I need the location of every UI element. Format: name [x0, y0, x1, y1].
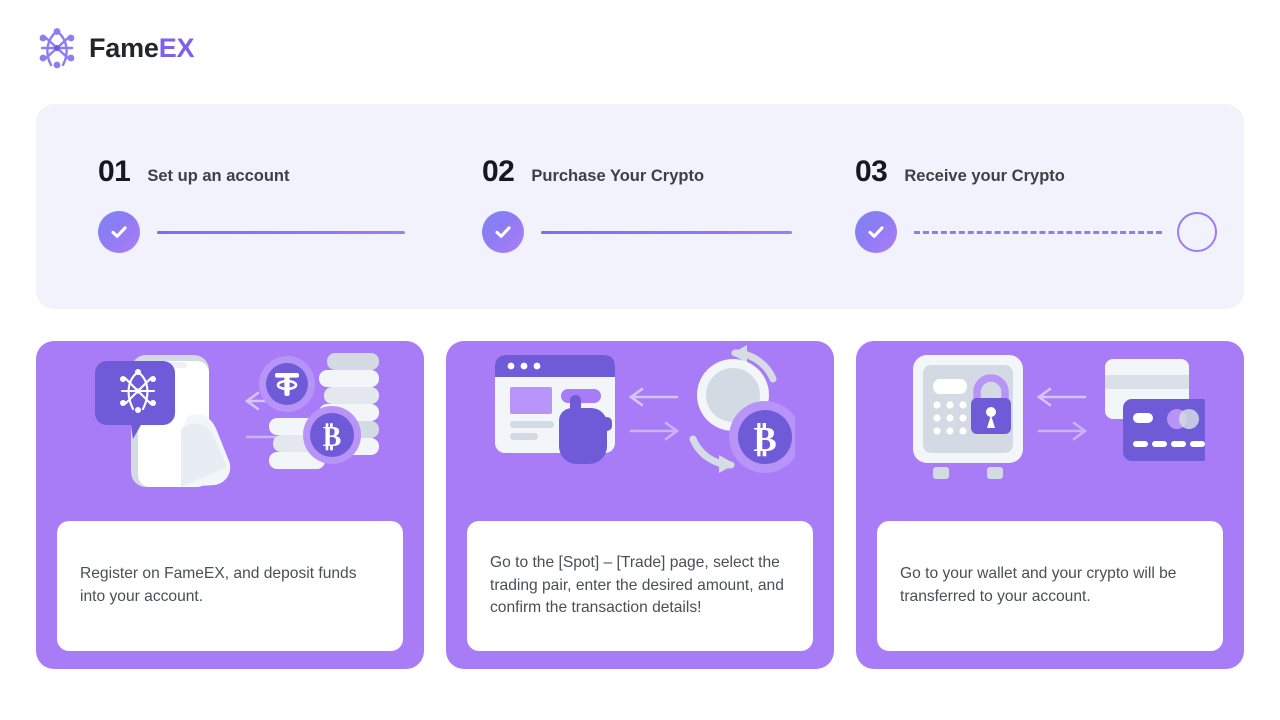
card-step-02-note: Go to the [Spot] – [Trade] page, select …: [467, 521, 813, 651]
step-03[interactable]: 03 Receive your Crypto: [855, 104, 1244, 309]
step-01-heading: 01 Set up an account: [98, 157, 289, 187]
check-circle-icon: [855, 211, 897, 253]
card-step-02-text: Go to the [Spot] – [Trade] page, select …: [490, 552, 790, 620]
exchange-arrows-icon: [631, 389, 677, 439]
step-03-label: Receive your Crypto: [904, 168, 1064, 185]
check-circle-icon: [482, 211, 524, 253]
safe-and-cards-illustration: [856, 341, 1244, 516]
step-01-number: 01: [98, 157, 130, 187]
brand-name-part2: EX: [159, 33, 195, 63]
hand-icon: [181, 414, 230, 487]
step-01-connector-line: [157, 231, 405, 234]
card-step-01-text: Register on FameEX, and deposit funds in…: [80, 563, 380, 608]
browser-trade-illustration: ₿: [446, 341, 834, 516]
card-step-03[interactable]: Go to your wallet and your crypto will b…: [856, 341, 1244, 669]
empty-circle-icon: [1177, 212, 1217, 252]
step-01[interactable]: 01 Set up an account: [98, 104, 471, 309]
fameex-network-logo-icon: [36, 26, 78, 70]
check-circle-icon: [98, 211, 140, 253]
step-02-number: 02: [482, 157, 514, 187]
step-03-number: 03: [855, 157, 887, 187]
bitcoin-coin-icon: ₿: [303, 406, 361, 464]
exchange-arrows-icon: [1039, 389, 1085, 439]
brand-logo[interactable]: FameEX: [36, 26, 194, 70]
keypad-icon: [933, 401, 966, 434]
tether-coin-icon: [259, 356, 315, 412]
card-step-02[interactable]: ₿ Go to the [Spot] – [Trade] page, selec…: [446, 341, 834, 669]
card-step-03-note: Go to your wallet and your crypto will b…: [877, 521, 1223, 651]
credit-card-icon: [1123, 399, 1205, 461]
step-02-track: [482, 211, 792, 253]
brand-name: FameEX: [89, 35, 194, 62]
safe-vault-icon: [913, 355, 1023, 479]
step-02-connector-line: [541, 231, 792, 234]
step-02-heading: 02 Purchase Your Crypto: [482, 157, 704, 187]
steps-cards-row: ₿ Register on FameEX, and deposit funds …: [36, 341, 1244, 669]
steps-progress-panel: 01 Set up an account 02 Purchase Your Cr…: [36, 104, 1244, 309]
card-step-01-note: Register on FameEX, and deposit funds in…: [57, 521, 403, 651]
step-03-track: [855, 211, 1217, 253]
svg-text:₿: ₿: [323, 422, 342, 453]
brand-name-part1: Fame: [89, 33, 159, 63]
svg-text:₿: ₿: [753, 420, 776, 459]
card-step-01[interactable]: ₿ Register on FameEX, and deposit funds …: [36, 341, 424, 669]
phone-with-coins-illustration: ₿: [36, 341, 424, 516]
card-step-03-text: Go to your wallet and your crypto will b…: [900, 563, 1200, 608]
step-03-heading: 03 Receive your Crypto: [855, 157, 1065, 187]
step-02[interactable]: 02 Purchase Your Crypto: [482, 104, 855, 309]
step-01-label: Set up an account: [147, 168, 289, 185]
step-03-connector-line: [914, 231, 1162, 234]
step-02-label: Purchase Your Crypto: [531, 168, 704, 185]
page-root: FameEX 01 Set up an account 02 Pur: [0, 0, 1280, 720]
step-01-track: [98, 211, 405, 253]
